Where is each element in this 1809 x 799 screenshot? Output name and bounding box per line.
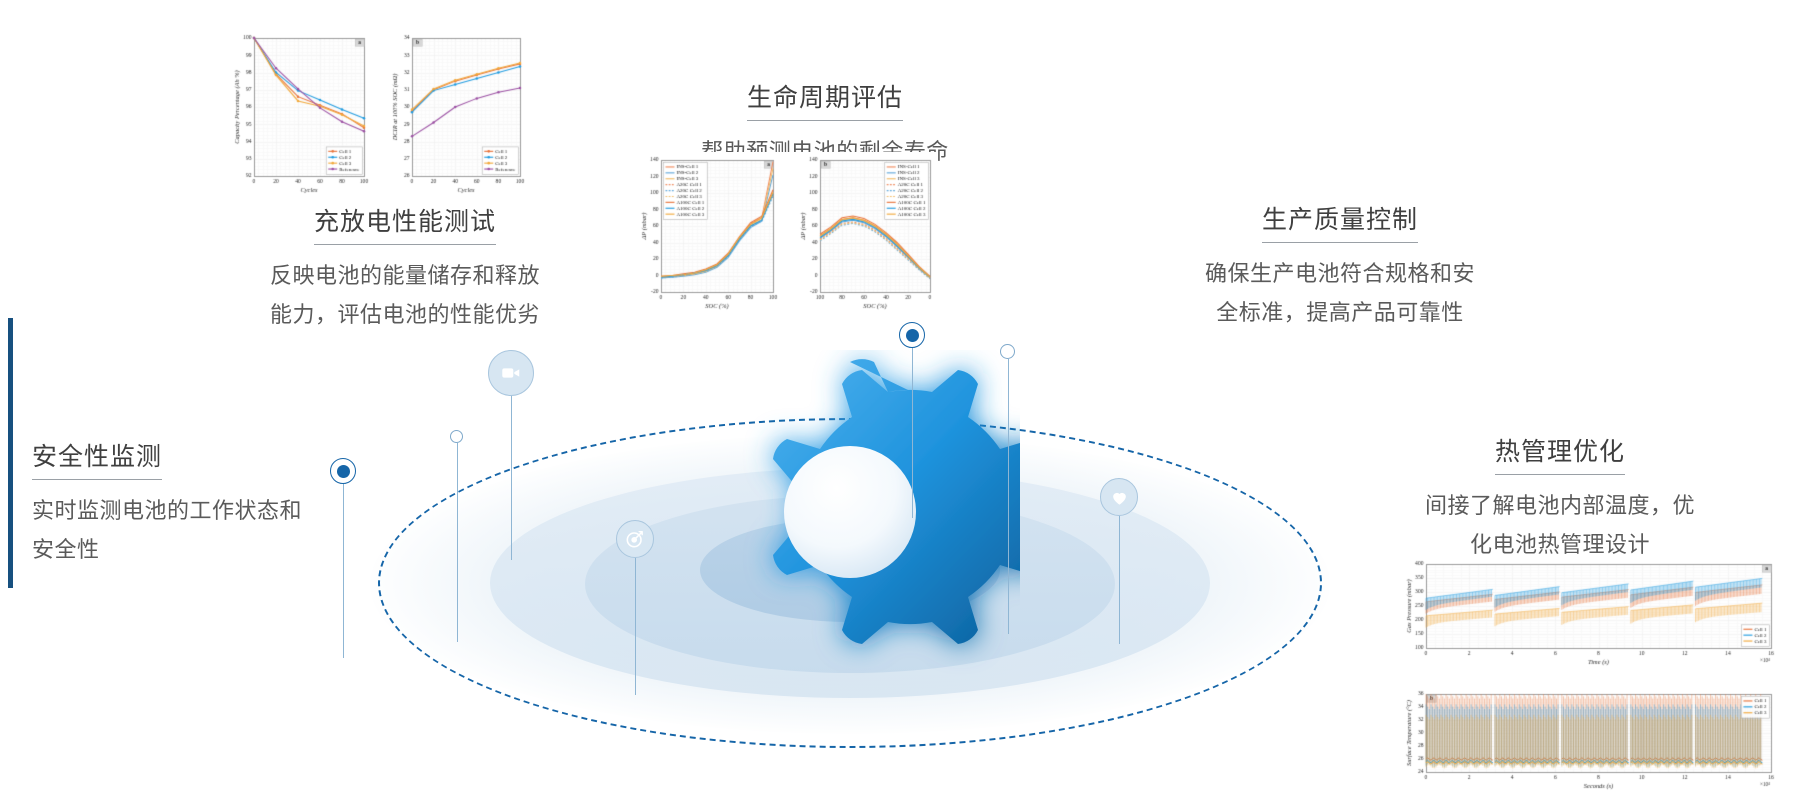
node-stalk (343, 484, 344, 658)
node-ring-right[interactable] (1000, 344, 1016, 634)
section-thermal-management: 热管理优化 间接了解电池内部温度，优 化电池热管理设计 (1390, 437, 1730, 564)
left-accent-bar (8, 318, 13, 588)
filled-dot-icon (899, 322, 925, 348)
video-camera-icon (488, 350, 534, 396)
hollow-dot-icon (450, 430, 463, 443)
figure-thermal-management (1392, 556, 1792, 794)
section-desc: 反映电池的能量储存和释放 能力，评估电池的性能优劣 (245, 257, 565, 334)
node-stalk (511, 394, 512, 560)
section-title: 安全性监测 (32, 442, 162, 480)
node-stalk (457, 443, 458, 642)
node-target[interactable] (616, 520, 654, 695)
node-stalk (912, 347, 913, 518)
section-title: 生命周期评估 (747, 83, 903, 121)
section-desc: 确保生产电池符合规格和安 全标准，提高产品可靠性 (1175, 255, 1505, 332)
section-charge-discharge: 充放电性能测试 反映电池的能量储存和释放 能力，评估电池的性能优劣 (245, 207, 565, 334)
infographic-canvas: 充放电性能测试 反映电池的能量储存和释放 能力，评估电池的性能优劣 生命周期评估… (0, 0, 1809, 799)
section-desc: 间接了解电池内部温度，优 化电池热管理设计 (1390, 487, 1730, 564)
node-video[interactable] (488, 350, 534, 560)
section-title: 热管理优化 (1495, 437, 1625, 475)
figure-charge-discharge (220, 28, 530, 203)
figure-life-cycle (628, 152, 938, 322)
target-icon (616, 520, 654, 558)
hollow-dot-icon (1000, 344, 1015, 359)
node-stalk (635, 558, 636, 695)
hero-illustration (370, 330, 1330, 799)
node-stalk (1008, 359, 1009, 634)
heart-icon (1100, 478, 1138, 516)
node-heart[interactable] (1100, 478, 1138, 644)
filled-dot-icon (330, 458, 356, 484)
gear-icon (680, 350, 1020, 680)
node-stalk (1119, 516, 1120, 644)
node-dot-left[interactable] (328, 458, 358, 658)
section-title: 生产质量控制 (1262, 205, 1418, 243)
node-dot-top[interactable] (898, 322, 926, 518)
section-quality-control: 生产质量控制 确保生产电池符合规格和安 全标准，提高产品可靠性 (1175, 205, 1505, 332)
section-title: 充放电性能测试 (314, 207, 496, 245)
node-ring-small[interactable] (450, 430, 464, 642)
